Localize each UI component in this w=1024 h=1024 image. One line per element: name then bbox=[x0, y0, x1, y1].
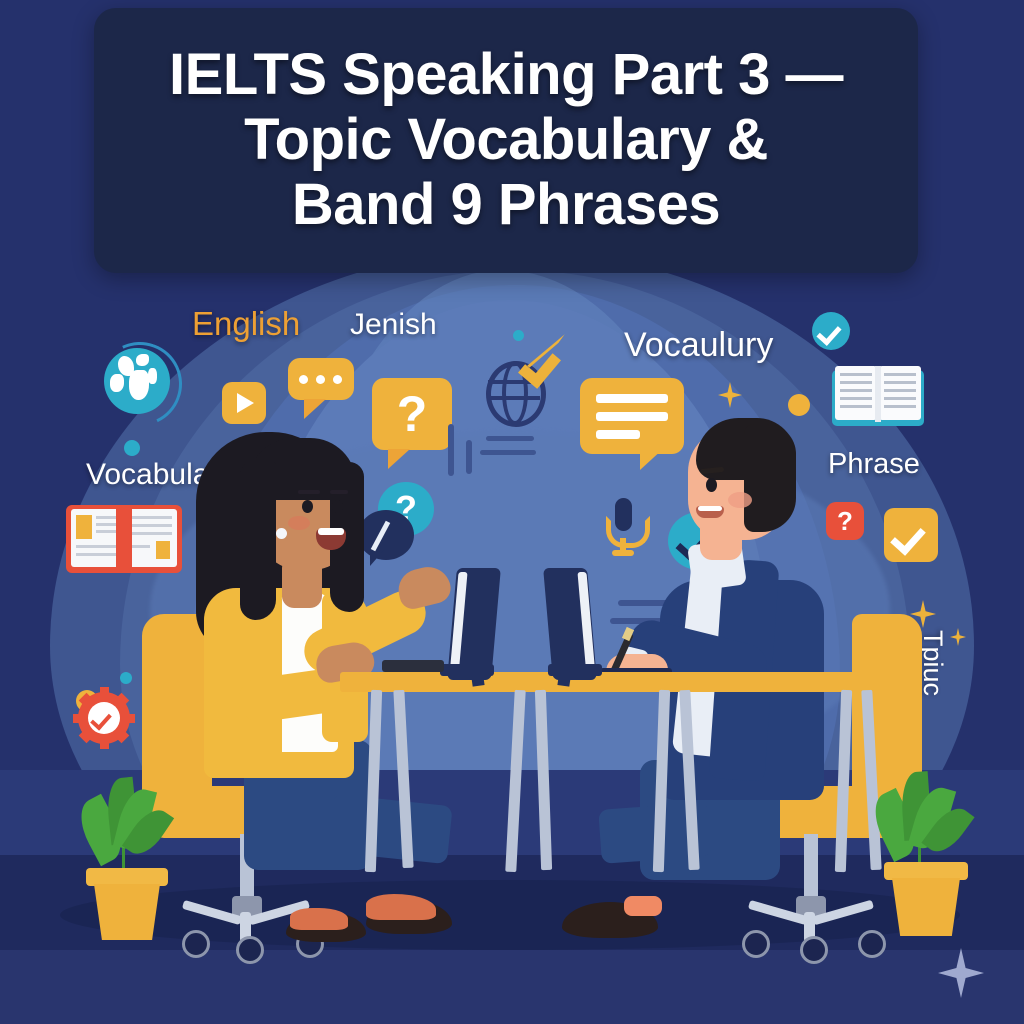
page-title: IELTS Speaking Part 3 — Topic Vocabulary… bbox=[143, 43, 869, 238]
floor-front-band bbox=[0, 950, 1024, 1024]
speech-bubble-navy-icon bbox=[358, 510, 414, 562]
chat-dots-bubble-icon bbox=[288, 358, 354, 400]
orange-checkmark-icon bbox=[524, 330, 580, 378]
play-button-icon[interactable] bbox=[222, 382, 266, 424]
deco-line-8 bbox=[448, 424, 454, 476]
deco-line-9 bbox=[466, 440, 472, 474]
gear-check-red-icon bbox=[78, 692, 130, 744]
dot-teal-1 bbox=[124, 440, 140, 456]
label-phrase: Phrase bbox=[828, 448, 920, 481]
question-square-red-icon: ? bbox=[826, 502, 864, 540]
title-line-3: Band 9 Phrases bbox=[292, 172, 720, 237]
label-vocaulury-right: Vocaulury bbox=[624, 326, 773, 365]
open-book-teal-icon bbox=[832, 366, 924, 428]
title-line-1: IELTS Speaking Part 3 — bbox=[169, 42, 843, 107]
question-bubble-yellow-icon: ? bbox=[372, 378, 452, 450]
label-english: English bbox=[192, 305, 300, 343]
deco-line-2 bbox=[480, 450, 536, 455]
label-jenish: Jenish bbox=[350, 308, 437, 342]
globe-teal-icon bbox=[96, 340, 178, 422]
open-book-red-icon bbox=[66, 505, 182, 573]
dot-teal-2 bbox=[120, 672, 132, 684]
poster-canvas: English Jenish Vocabulary Vocaulury Phra… bbox=[0, 0, 1024, 1024]
check-circle-teal-icon bbox=[812, 312, 850, 350]
text-lines-bubble-icon bbox=[580, 378, 684, 454]
microphone-icon bbox=[604, 498, 642, 560]
dot-teal-3 bbox=[513, 330, 524, 341]
title-banner: IELTS Speaking Part 3 — Topic Vocabulary… bbox=[94, 8, 918, 273]
title-line-2: Topic Vocabulary & bbox=[244, 107, 768, 172]
dot-orange-2 bbox=[788, 394, 810, 416]
deco-line-1 bbox=[486, 436, 534, 441]
check-square-yellow-icon bbox=[884, 508, 938, 562]
